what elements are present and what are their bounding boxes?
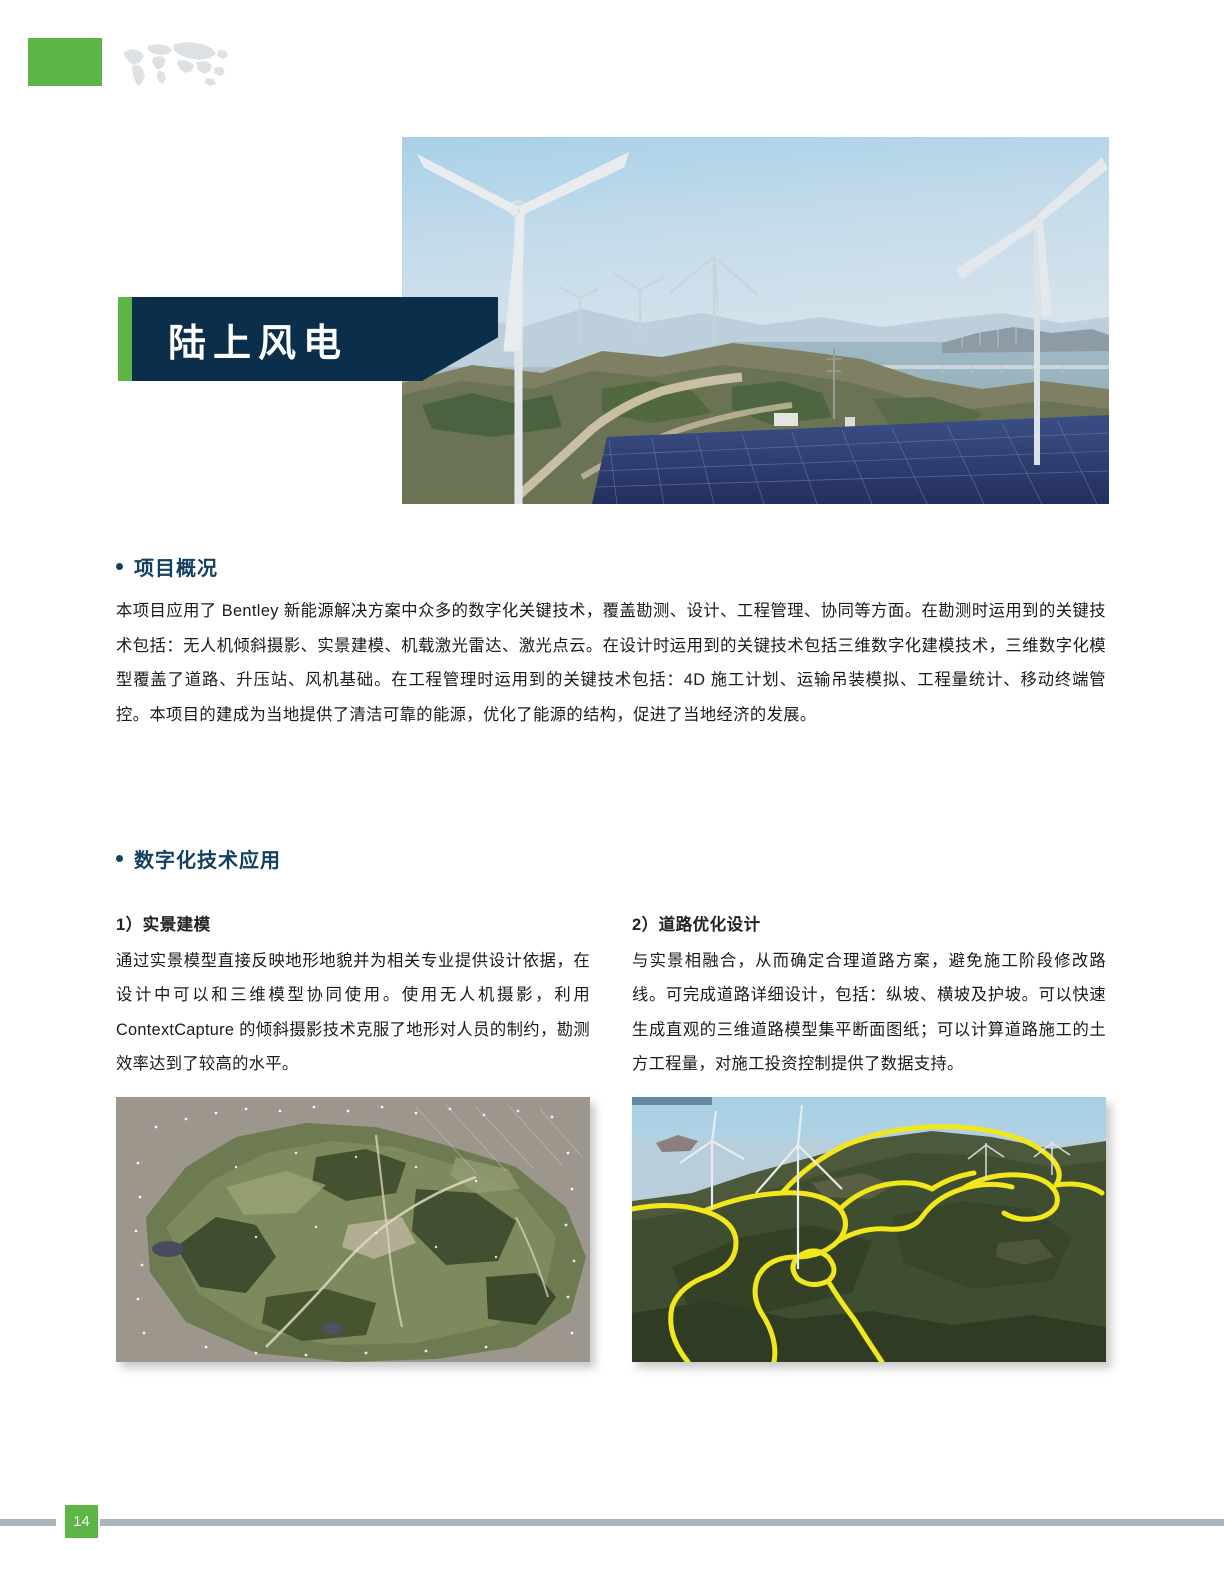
figure-row [116,1097,1106,1362]
bullet-dot-icon [116,855,123,862]
page-number-badge: 14 [65,1505,98,1538]
bullet-dot-icon [116,563,123,570]
footer-rule-left [0,1519,56,1526]
page-footer: 14 [0,1516,1224,1528]
subsection-title-2: 2）道路优化设计 [632,911,1106,935]
footer-rule-right [100,1519,1224,1526]
section-heading-overview-label: 项目概况 [134,552,218,581]
section-heading-digital: 数字化技术应用 [116,844,1106,873]
overview-paragraph: 本项目应用了 Bentley 新能源解决方案中众多的数字化关键技术，覆盖勘测、设… [116,594,1106,732]
corner-green-block [28,38,102,86]
subsection-body-2: 与实景相融合，从而确定合理道路方案，避免施工阶段修改路线。可完成道路详细设计，包… [632,944,1106,1081]
page-title-banner: 陆上风电 [118,297,498,381]
two-column-block: 1）实景建模 通过实景模型直接反映地形地貌并为相关专业提供设计依据，在设计中可以… [116,911,1106,1081]
section-heading-digital-label: 数字化技术应用 [134,844,281,873]
world-map-watermark-icon [118,38,230,90]
column-road-design: 2）道路优化设计 与实景相融合，从而确定合理道路方案，避免施工阶段修改路线。可完… [632,911,1106,1081]
hero-image [402,137,1109,504]
subsection-body-1: 通过实景模型直接反映地形地貌并为相关专业提供设计依据，在设计中可以和三维模型协同… [116,944,590,1081]
column-reality-modeling: 1）实景建模 通过实景模型直接反映地形地貌并为相关专业提供设计依据，在设计中可以… [116,911,590,1081]
page-title: 陆上风电 [168,312,348,367]
subsection-title-1: 1）实景建模 [116,911,590,935]
figure-road-design [632,1097,1106,1362]
section-heading-overview: 项目概况 [116,552,1106,581]
title-accent-bar [118,297,132,381]
main-content: 项目概况 本项目应用了 Bentley 新能源解决方案中众多的数字化关键技术，覆… [116,552,1106,1081]
figure-reality-mesh [116,1097,590,1362]
